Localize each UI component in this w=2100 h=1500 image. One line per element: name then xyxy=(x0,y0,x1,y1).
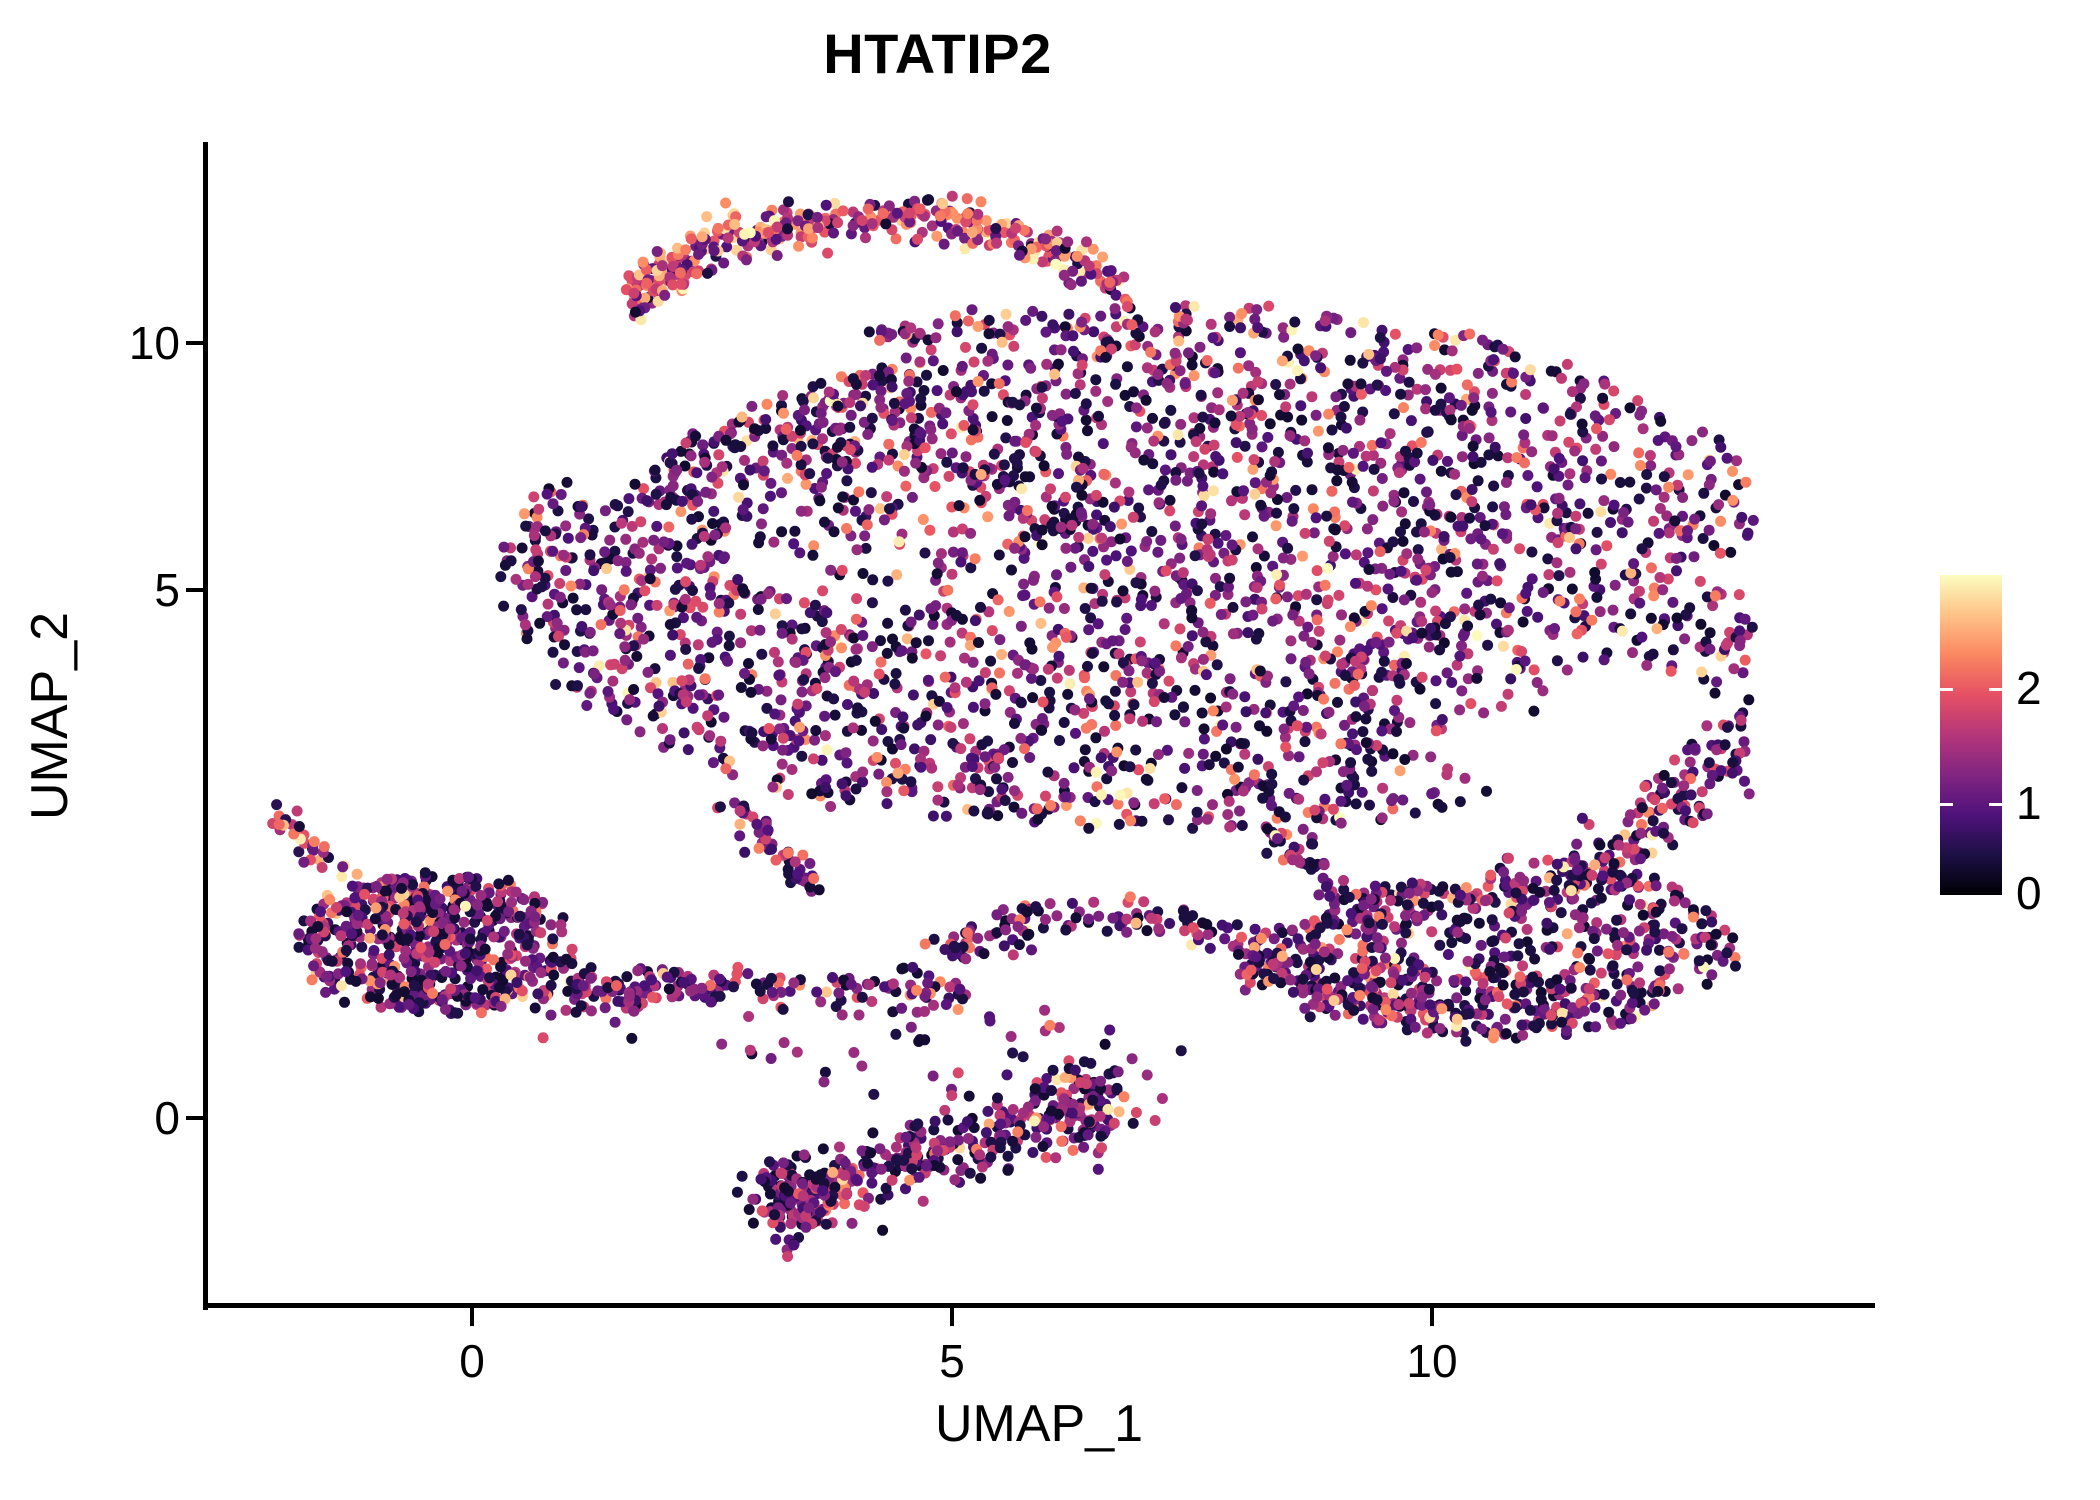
y-axis-title: UMAP_2 xyxy=(24,132,76,1300)
colorbar-tick-mark xyxy=(1989,803,2002,806)
page-title: HTATIP2 xyxy=(0,26,1875,82)
colorbar-tick-mark xyxy=(1989,688,2002,691)
x-tick-label: 10 xyxy=(1332,1338,1532,1384)
colorbar-label: 0 xyxy=(2016,870,2042,916)
x-tick-mark xyxy=(470,1308,474,1326)
scatter-points-layer xyxy=(205,142,1875,1306)
y-tick-mark xyxy=(186,1116,203,1120)
x-tick-label: 5 xyxy=(852,1338,1052,1384)
color-legend[interactable]: 210 xyxy=(1940,575,2100,905)
x-tick-mark xyxy=(950,1308,954,1326)
x-tick-mark xyxy=(1430,1308,1434,1326)
x-axis-title: UMAP_1 xyxy=(203,1398,1875,1450)
y-axis-line xyxy=(203,142,208,1310)
figure-canvas: HTATIP2 1050 0510 UMAP_1 UMAP_2 210 xyxy=(0,0,2100,1500)
colorbar-tick-mark xyxy=(1940,803,1953,806)
colorbar-gradient xyxy=(1940,575,2002,895)
colorbar-tick-mark xyxy=(1940,688,1953,691)
y-tick-mark xyxy=(186,588,203,592)
x-axis-line xyxy=(203,1303,1875,1308)
colorbar-label: 1 xyxy=(2016,780,2042,826)
colorbar-label: 2 xyxy=(2016,665,2042,711)
y-tick-mark xyxy=(186,341,203,345)
colorbar[interactable] xyxy=(1940,575,2002,895)
scatter-plot-panel[interactable] xyxy=(205,142,1875,1306)
x-tick-label: 0 xyxy=(372,1338,572,1384)
